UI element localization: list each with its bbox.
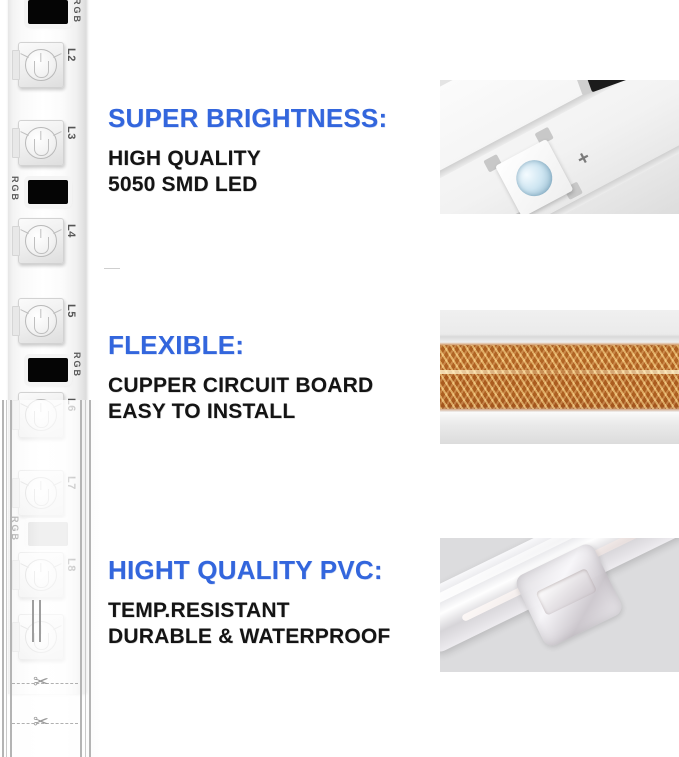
pvc-tube-bore xyxy=(535,568,597,616)
feature-title: FLEXIBLE: xyxy=(108,330,373,361)
feature-line: DURABLE & WATERPROOF xyxy=(108,624,390,650)
led-label: L8 xyxy=(65,558,77,572)
led-lens-facet xyxy=(53,625,62,630)
pvc-sheen xyxy=(440,412,679,444)
scissors-icon: ✂ xyxy=(33,672,49,694)
pcb-closeup-illustration: R11 + D2 xyxy=(440,80,679,214)
sleeve-edge-rail xyxy=(2,400,4,757)
led-lens-facet xyxy=(53,229,62,234)
led-lens-icon xyxy=(25,127,57,159)
feature-line: EASY TO INSTALL xyxy=(108,399,373,425)
feature-title: HIGHT QUALITY PVC: xyxy=(108,555,390,586)
feature-line: TEMP.RESISTANT xyxy=(108,598,390,624)
led-lens-facet xyxy=(53,563,62,568)
photo-copper-circuit-board xyxy=(440,310,679,444)
section-divider xyxy=(104,268,120,269)
led-package xyxy=(18,470,64,516)
led-label: L2 xyxy=(65,48,77,62)
led-package xyxy=(18,392,64,438)
smd-5050-led-chip xyxy=(495,139,573,214)
feature-block-pvc: HIGHT QUALITY PVC: TEMP.RESISTANT DURABL… xyxy=(108,555,390,651)
led-lens-icon xyxy=(25,49,57,81)
led-package xyxy=(18,552,64,598)
led-package xyxy=(18,218,64,264)
photo-smd-led-macro: R11 + D2 xyxy=(440,80,679,214)
photo-pvc-sleeve xyxy=(440,538,679,672)
sleeve-edge-rail xyxy=(89,400,91,757)
led-lens-facet xyxy=(20,131,29,136)
led-lens-facet xyxy=(20,53,29,58)
led-label: L3 xyxy=(65,126,77,140)
rgb-chip-label: RGB xyxy=(72,0,82,24)
led-dome-icon xyxy=(510,154,559,203)
feature-block-super-brightness: SUPER BRIGHTNESS: HIGH QUALITY 5050 SMD … xyxy=(108,103,387,199)
pvc-tube-illustration xyxy=(440,538,679,672)
feature-title: SUPER BRIGHTNESS: xyxy=(108,103,387,134)
feature-block-flexible: FLEXIBLE: CUPPER CIRCUIT BOARD EASY TO I… xyxy=(108,330,373,426)
led-lens-facet xyxy=(53,131,62,136)
cut-marker: ✂ xyxy=(12,672,78,694)
led-lens-facet xyxy=(53,403,62,408)
led-strip-column: RGB L2 L3 RGB L4 L5 xyxy=(0,0,100,757)
rgb-chip xyxy=(28,522,68,546)
cut-marker: ✂ xyxy=(12,712,78,734)
scissors-icon: ✂ xyxy=(33,712,49,734)
copper-highlight xyxy=(440,370,679,374)
led-package xyxy=(18,120,64,166)
led-package xyxy=(18,298,64,344)
led-lens-icon xyxy=(25,399,57,431)
led-lens-facet xyxy=(20,309,29,314)
rgb-chip xyxy=(28,358,68,382)
rgb-chip-label: RGB xyxy=(72,352,82,378)
led-lens-facet xyxy=(20,403,29,408)
rgb-chip xyxy=(28,0,68,24)
rgb-chip-label: RGB xyxy=(10,176,20,202)
led-package xyxy=(18,42,64,88)
led-lens-facet xyxy=(20,229,29,234)
sleeve-edge-rail xyxy=(10,400,12,757)
sleeve-edge-rail xyxy=(85,400,86,757)
feature-line: HIGH QUALITY xyxy=(108,146,387,172)
led-label: L7 xyxy=(65,476,77,490)
copper-braid-illustration xyxy=(440,310,679,444)
led-lens-facet xyxy=(20,481,29,486)
led-lens-icon xyxy=(25,305,57,337)
led-strip-board: RGB L2 L3 RGB L4 L5 xyxy=(8,0,86,694)
led-lead-wires xyxy=(30,600,44,642)
feature-line: 5050 SMD LED xyxy=(108,172,387,198)
led-lens-facet xyxy=(53,309,62,314)
led-lens-icon xyxy=(25,477,57,509)
sleeve-edge-rail xyxy=(80,400,82,757)
sleeve-edge-rail xyxy=(6,400,7,757)
copper-weave-texture xyxy=(440,345,679,409)
led-lens-facet xyxy=(53,481,62,486)
silkscreen-polarity: + xyxy=(573,146,594,172)
led-label: L6 xyxy=(65,398,77,412)
rgb-chip xyxy=(28,180,68,204)
led-label: L4 xyxy=(65,224,77,238)
led-lens-facet xyxy=(20,625,29,630)
led-lens-icon xyxy=(25,225,57,257)
led-label: L5 xyxy=(65,304,77,318)
led-lens-icon xyxy=(25,559,57,591)
led-lens-facet xyxy=(20,563,29,568)
led-lens-facet xyxy=(53,53,62,58)
feature-line: CUPPER CIRCUIT BOARD xyxy=(108,373,373,399)
